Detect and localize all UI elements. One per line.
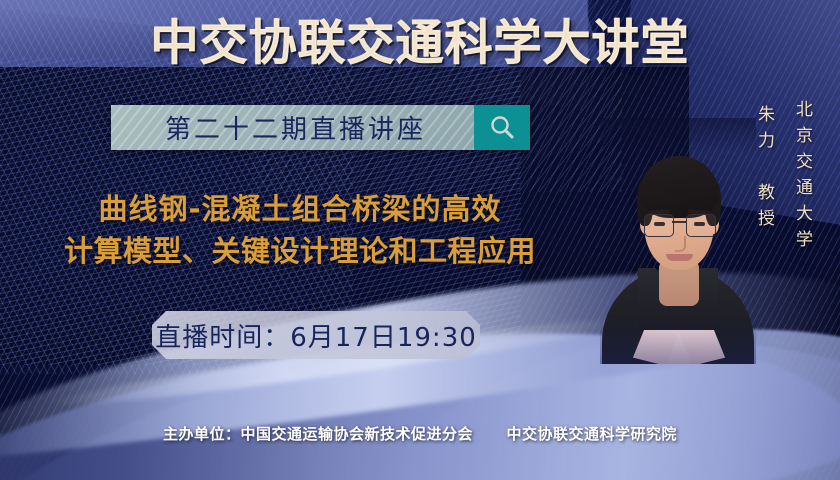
lecture-topic: 曲线钢-混凝土组合桥梁的高效 计算模型、关键设计理论和工程应用	[0, 188, 600, 272]
subtitle-label-container: 第二十二期直播讲座	[111, 105, 474, 150]
broadcast-time-badge: 直播时间：6月17日19:30	[152, 311, 480, 359]
organizer-secondary: 中交协联交通科学研究院	[506, 425, 677, 443]
organizer-footer: 主办单位：中国交通运输协会新技术促进分会 中交协联交通科学研究院	[0, 423, 840, 444]
organizer-primary: 主办单位：中国交通运输协会新技术促进分会	[163, 425, 473, 443]
speaker-name: 朱力 教授	[752, 105, 777, 235]
search-icon	[487, 113, 517, 143]
search-button[interactable]	[474, 105, 530, 150]
page-title: 中交协联交通科学大讲堂	[0, 12, 840, 74]
portrait-fade-overlay	[600, 118, 756, 364]
lecture-topic-line-1: 曲线钢-混凝土组合桥梁的高效	[0, 188, 600, 230]
speaker-portrait	[600, 118, 756, 364]
broadcast-time-label: 直播时间：6月17日19:30	[155, 317, 477, 354]
subtitle-label: 第二十二期直播讲座	[159, 109, 426, 146]
live-lecture-poster: 中交协联交通科学大讲堂 第二十二期直播讲座 曲线钢-混凝土组合桥梁的高效 计算模…	[0, 0, 840, 480]
subtitle-bar: 第二十二期直播讲座	[111, 105, 530, 150]
lecture-topic-line-2: 计算模型、关键设计理论和工程应用	[0, 230, 600, 272]
speaker-affiliation: 北京交通大学	[790, 100, 815, 256]
